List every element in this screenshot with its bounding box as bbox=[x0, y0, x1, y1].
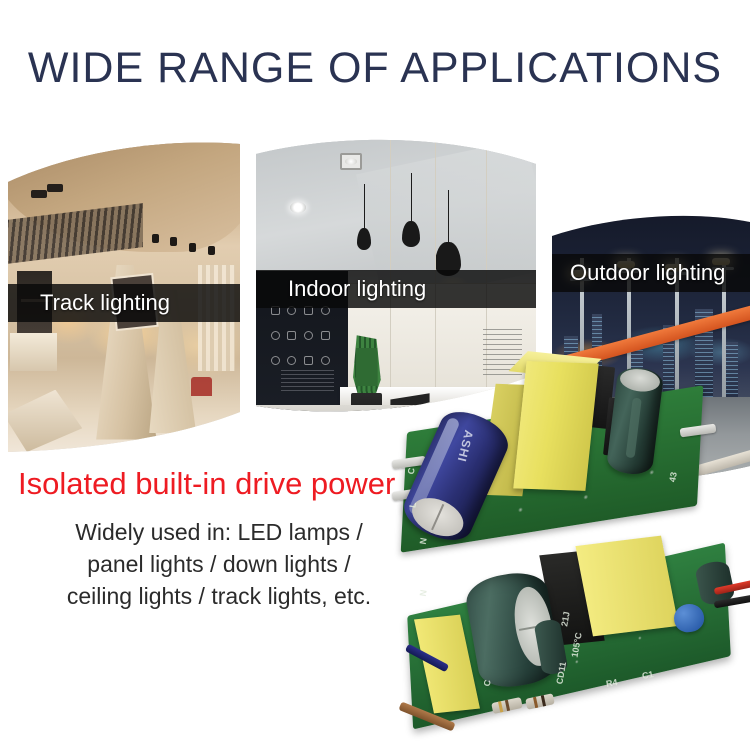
description-line-3: ceiling lights / track lights, etc. bbox=[0, 580, 438, 612]
spot-light bbox=[170, 237, 177, 246]
panel-label-outdoor-lighting: Outdoor lighting bbox=[570, 260, 725, 286]
white-desk bbox=[10, 333, 56, 370]
silkscreen-n: N bbox=[418, 589, 429, 597]
application-panel-track-lighting[interactable]: Track lighting bbox=[8, 140, 240, 452]
yellow-transformer bbox=[513, 361, 599, 491]
description-line-2: panel lights / down lights / bbox=[0, 548, 438, 580]
yellow-transformer bbox=[575, 536, 678, 637]
spot-light bbox=[208, 246, 215, 255]
product-marketing-banner: WIDE RANGE OF APPLICATIONS Track lightin… bbox=[0, 0, 750, 750]
page-title: WIDE RANGE OF APPLICATIONS bbox=[0, 44, 750, 93]
spot-light bbox=[189, 243, 196, 252]
round-downlight-icon bbox=[290, 202, 306, 213]
panel-label-bar-track-lighting: Track lighting bbox=[8, 284, 240, 322]
silkscreen-43: 43 bbox=[667, 471, 679, 483]
product-photo-led-driver-lower[interactable]: N C CD11 105°C 21J R4 C1 bbox=[398, 528, 750, 750]
silkscreen-r4: R4 bbox=[605, 677, 618, 689]
track-light-fixture bbox=[47, 184, 63, 192]
pendant-lamp bbox=[357, 184, 371, 258]
panel-label-track-lighting: Track lighting bbox=[40, 290, 170, 316]
promo-headline: Isolated built-in drive power bbox=[18, 466, 395, 502]
square-downlight-icon bbox=[340, 153, 362, 170]
panel-label-bar-indoor-lighting: Indoor lighting bbox=[256, 270, 536, 308]
track-light-fixture bbox=[31, 190, 47, 198]
pendant-lamp bbox=[402, 173, 420, 259]
wall-caption-text bbox=[281, 370, 334, 393]
panel-label-indoor-lighting: Indoor lighting bbox=[288, 276, 426, 302]
panel-label-bar-outdoor-lighting: Outdoor lighting bbox=[552, 254, 750, 292]
red-chair bbox=[191, 377, 212, 396]
description-line-1: Widely used in: LED lamps / bbox=[0, 516, 438, 548]
floor-wedge bbox=[8, 390, 82, 452]
promo-description: Widely used in: LED lamps / panel lights… bbox=[0, 516, 438, 612]
silkscreen-c1: C1 bbox=[641, 669, 654, 681]
spot-light bbox=[152, 234, 159, 243]
capacitor-label: ASHI bbox=[455, 429, 476, 464]
